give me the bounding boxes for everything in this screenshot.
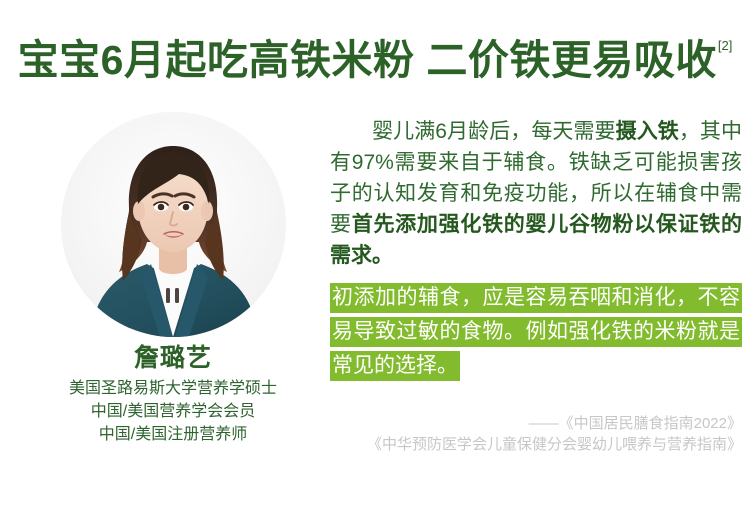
highlighted-quote-text: 初添加的辅食，应是容易吞咽和消化，不容易导致过敏的食物。例如强化铁的米粉就是常见… [330, 283, 742, 381]
infographic-page: 宝宝6月起吃高铁米粉 二价铁更易吸收[2] [0, 0, 750, 521]
avatar-image-clip [61, 112, 286, 337]
expert-credentials: 美国圣路易斯大学营养学硕士 中国/美国营养学会会员 中国/美国注册营养师 [8, 377, 338, 446]
credential-line: 美国圣路易斯大学营养学硕士 [8, 377, 338, 400]
paragraph-segment-1: 婴儿满6月龄后，每天需要 [372, 120, 616, 143]
citation-line: ——《中国居民膳食指南2022》 [300, 413, 742, 434]
page-title-text: 宝宝6月起吃高铁米粉 二价铁更易吸收 [18, 36, 717, 84]
expert-profile-panel: 詹璐艺 美国圣路易斯大学营养学硕士 中国/美国营养学会会员 中国/美国注册营养师 [8, 112, 338, 446]
citation-block: ——《中国居民膳食指南2022》 《中华预防医学会儿童保健分会婴幼儿喂养与营养指… [300, 413, 742, 455]
citation-line: 《中华预防医学会儿童保健分会婴幼儿喂养与营养指南》 [300, 434, 742, 455]
avatar [61, 112, 286, 337]
credential-line: 中国/美国注册营养师 [8, 423, 338, 446]
paragraph-bold-1: 摄入铁 [616, 120, 679, 143]
page-title: 宝宝6月起吃高铁米粉 二价铁更易吸收[2] [0, 36, 750, 84]
highlighted-quote: 初添加的辅食，应是容易吞咽和消化，不容易导致过敏的食物。例如强化铁的米粉就是常见… [330, 281, 742, 383]
body-copy-panel: 婴儿满6月龄后，每天需要摄入铁，其中有97%需要来自于辅食。铁缺乏可能损害孩子的… [330, 116, 742, 383]
body-paragraph: 婴儿满6月龄后，每天需要摄入铁，其中有97%需要来自于辅食。铁缺乏可能损害孩子的… [330, 116, 742, 271]
credential-line: 中国/美国营养学会会员 [8, 400, 338, 423]
portrait-of-nutritionist-icon [61, 112, 286, 337]
title-reference-superscript: [2] [718, 38, 732, 54]
expert-name: 詹璐艺 [8, 343, 338, 373]
paragraph-bold-2: 首先添加强化铁的婴儿谷物粉以保证铁的需求。 [330, 213, 742, 267]
